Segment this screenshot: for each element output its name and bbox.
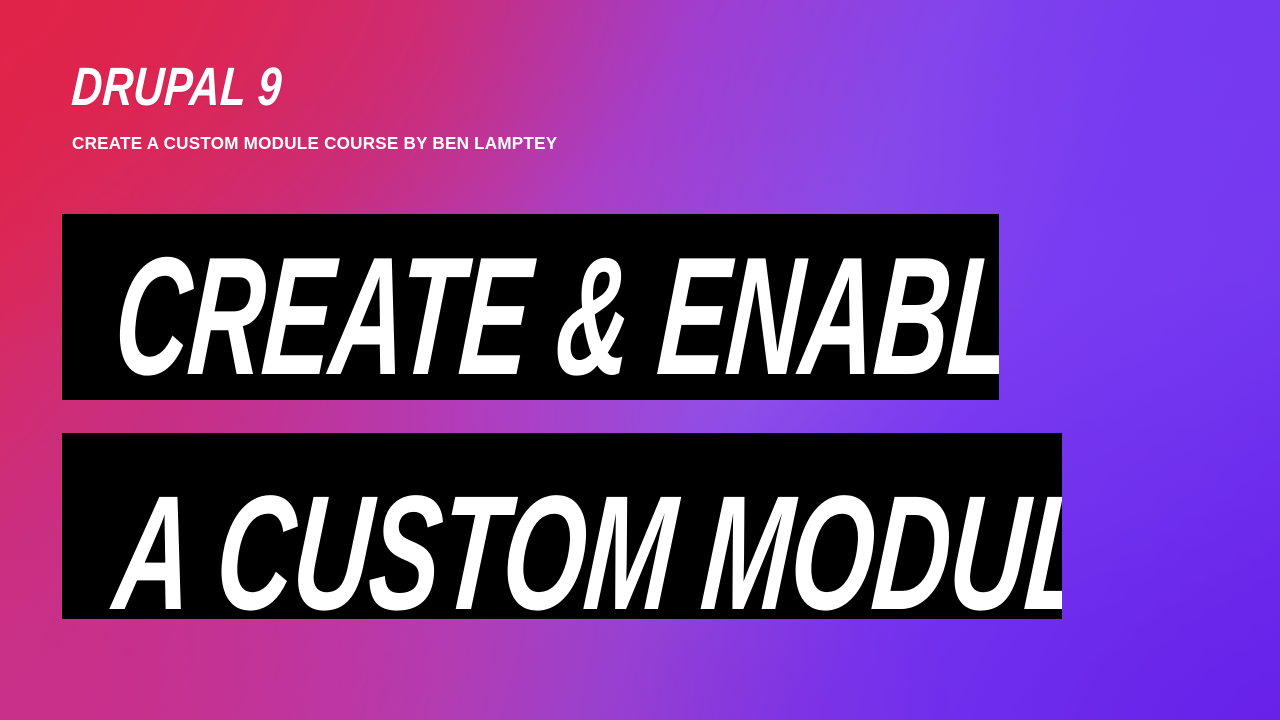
- headline-line-2: A CUSTOM MODULE: [109, 471, 1062, 619]
- course-subtitle: CREATE A CUSTOM MODULE COURSE BY BEN LAM…: [72, 133, 557, 153]
- headline-band-second: A CUSTOM MODULE: [62, 433, 1062, 619]
- headline-line-1: CREATE & ENABLE: [110, 232, 999, 400]
- slide-content: DRUPAL 9 CREATE A CUSTOM MODULE COURSE B…: [0, 0, 1280, 720]
- course-kicker-title: DRUPAL 9: [70, 60, 284, 114]
- headline-band-first: CREATE & ENABLE: [62, 214, 999, 400]
- title-card-slide: DRUPAL 9 CREATE A CUSTOM MODULE COURSE B…: [0, 0, 1280, 720]
